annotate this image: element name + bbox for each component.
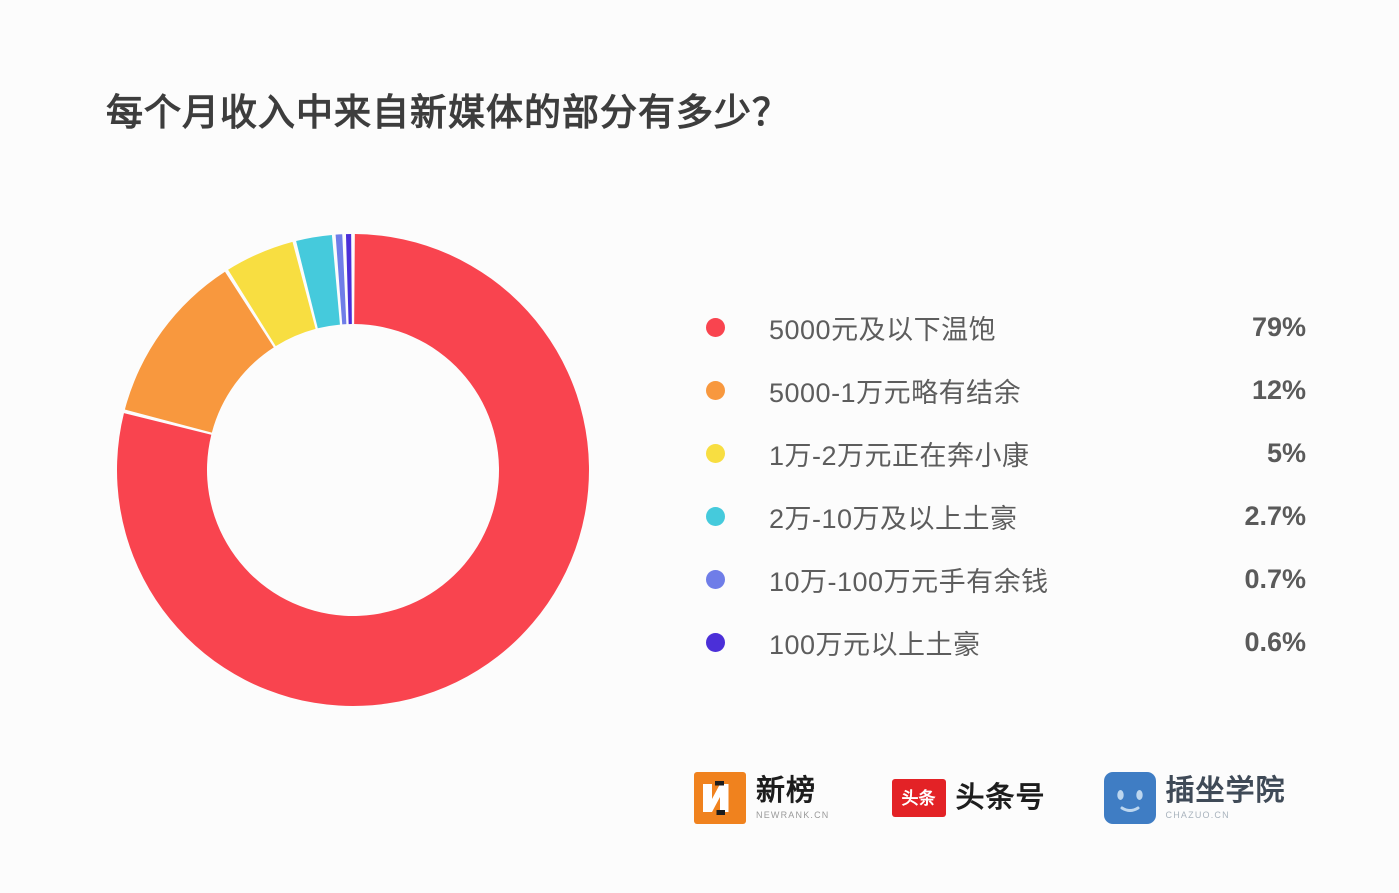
page-title: 每个月收入中来自新媒体的部分有多少？ — [106, 82, 790, 136]
legend-swatch-icon — [706, 381, 725, 400]
donut-chart — [115, 232, 591, 708]
logo-newrank-name: 新榜 — [756, 776, 830, 806]
logo-chazuo-sub: CHAZUO.CN — [1166, 810, 1286, 820]
donut-chart-svg — [115, 232, 591, 708]
logo-newrank-text: 新榜 NEWRANK.CN — [756, 776, 830, 819]
chart-legend: 5000元及以下温饱 79% 5000-1万元略有结余 12% 1万-2万元正在… — [706, 296, 1306, 674]
brand-logo-row: 新榜 NEWRANK.CN 头条 头条号 插坐学院 CHAZUO.CN — [694, 772, 1286, 824]
legend-item-value: 0.7% — [1188, 564, 1306, 595]
legend-item-value: 12% — [1188, 375, 1306, 406]
logo-chazuo-text: 插坐学院 CHAZUO.CN — [1166, 776, 1286, 819]
legend-swatch-icon — [706, 318, 725, 337]
logo-newrank[interactable]: 新榜 NEWRANK.CN — [694, 772, 830, 824]
legend-item-label: 10万-100万元手有余钱 — [769, 560, 1188, 599]
legend-item-0[interactable]: 5000元及以下温饱 79% — [706, 296, 1306, 359]
logo-toutiao[interactable]: 头条 头条号 — [892, 779, 1046, 817]
legend-item-value: 5% — [1188, 438, 1306, 469]
legend-swatch-icon — [706, 570, 725, 589]
donut-slice[interactable] — [346, 234, 352, 324]
legend-item-4[interactable]: 10万-100万元手有余钱 0.7% — [706, 548, 1306, 611]
logo-toutiao-text: 头条号 — [956, 783, 1046, 813]
legend-item-3[interactable]: 2万-10万及以上土豪 2.7% — [706, 485, 1306, 548]
page-root: 每个月收入中来自新媒体的部分有多少？ 5000元及以下温饱 79% 5000-1… — [0, 0, 1399, 893]
legend-item-1[interactable]: 5000-1万元略有结余 12% — [706, 359, 1306, 422]
logo-toutiao-name: 头条号 — [956, 783, 1046, 813]
donut-segments — [117, 234, 589, 706]
legend-swatch-icon — [706, 507, 725, 526]
legend-item-label: 2万-10万及以上土豪 — [769, 497, 1188, 536]
legend-item-value: 0.6% — [1188, 627, 1306, 658]
legend-swatch-icon — [706, 444, 725, 463]
legend-item-2[interactable]: 1万-2万元正在奔小康 5% — [706, 422, 1306, 485]
toutiao-badge-text: 头条 — [902, 790, 936, 807]
legend-item-label: 5000元及以下温饱 — [769, 308, 1188, 347]
toutiao-badge-icon: 头条 — [892, 779, 946, 817]
chazuo-face-icon — [1104, 772, 1156, 824]
newrank-square-icon — [694, 772, 746, 824]
legend-item-value: 79% — [1188, 312, 1306, 343]
legend-item-value: 2.7% — [1188, 501, 1306, 532]
legend-item-label: 5000-1万元略有结余 — [769, 371, 1188, 410]
logo-chazuo-name: 插坐学院 — [1166, 776, 1286, 806]
legend-item-label: 100万元以上土豪 — [769, 623, 1188, 662]
legend-item-label: 1万-2万元正在奔小康 — [769, 434, 1188, 473]
logo-chazuo[interactable]: 插坐学院 CHAZUO.CN — [1104, 772, 1286, 824]
legend-item-5[interactable]: 100万元以上土豪 0.6% — [706, 611, 1306, 674]
logo-newrank-sub: NEWRANK.CN — [756, 810, 830, 820]
legend-swatch-icon — [706, 633, 725, 652]
